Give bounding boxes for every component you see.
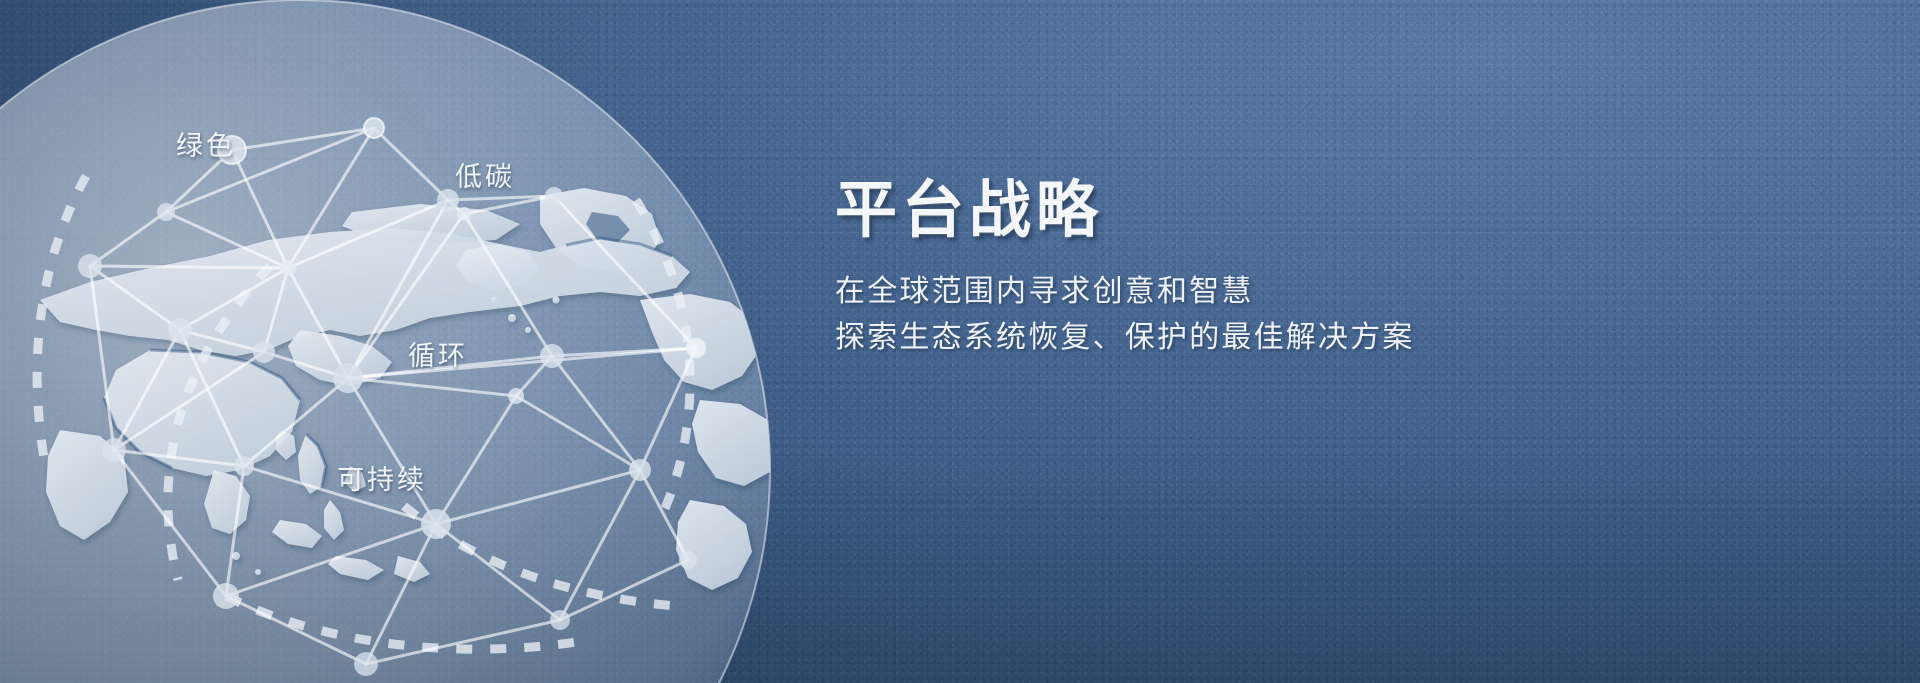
globe-illustration: 绿色 低碳 循环 可持续 [0,0,980,683]
globe-sphere [0,0,770,683]
subtitle-line-2: 探索生态系统恢复、保护的最佳解决方案 [835,315,1735,361]
globe-label-circular: 循环 [408,334,468,373]
globe-label-green: 绿色 [176,124,236,163]
globe-label-low-carbon: 低碳 [455,155,515,194]
banner-hero: 绿色 低碳 循环 可持续 平台战略 在全球范围内寻求创意和智慧 探索生态系统恢复… [0,0,1920,683]
subtitle-line-1: 在全球范围内寻求创意和智慧 [835,269,1735,315]
headline-block: 平台战略 在全球范围内寻求创意和智慧 探索生态系统恢复、保护的最佳解决方案 [835,178,1735,361]
globe-label-sustainable: 可持续 [337,458,427,497]
globe-svg [0,0,980,683]
page-title: 平台战略 [835,178,1735,243]
subtitle-block: 在全球范围内寻求创意和智慧 探索生态系统恢复、保护的最佳解决方案 [835,269,1735,361]
